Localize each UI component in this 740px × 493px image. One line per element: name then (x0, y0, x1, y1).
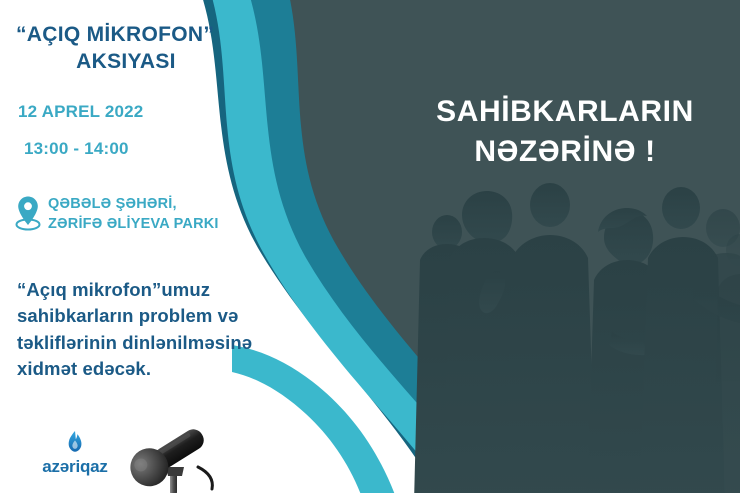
description-line-2: sahibkarların problem və (17, 303, 289, 329)
headline-line-2: NƏZƏRİNƏ ! (405, 132, 725, 172)
gas-flame-icon (62, 430, 88, 456)
map-pin-icon (15, 195, 41, 231)
title-line-2: AKSIYASI (16, 49, 278, 76)
event-announcement-banner: “AÇIQ MİKROFON” AKSIYASI 12 APREL 2022 1… (0, 0, 740, 493)
microphone-image (112, 415, 232, 493)
event-title: “AÇIQ MİKROFON” AKSIYASI (16, 22, 278, 76)
description-line-4: xidmət edəcək. (17, 356, 289, 382)
location-line-1: QƏBƏLƏ ŞƏHƏRİ, (48, 195, 219, 215)
microphone-cable (198, 467, 212, 489)
azeriqaz-wordmark: azəriqaz (30, 458, 120, 475)
azeriqaz-logo: azəriqaz (30, 430, 120, 475)
event-location: QƏBƏLƏ ŞƏHƏRİ, ZƏRİFƏ ƏLİYEVA PARKI (15, 193, 300, 234)
event-time: 13:00 - 14:00 (24, 140, 258, 157)
title-line-1: “AÇIQ MİKROFON” (16, 22, 278, 49)
description-line-3: təkliflərinin dinlənilməsinə (17, 330, 289, 356)
event-datetime: 12 APREL 2022 13:00 - 14:00 (18, 103, 258, 157)
description-line-1: “Açıq mikrofon”umuz (17, 277, 289, 303)
microphone-icon (112, 415, 232, 493)
event-date: 12 APREL 2022 (18, 103, 258, 120)
location-line-2: ZƏRİFƏ ƏLİYEVA PARKI (48, 215, 219, 235)
location-text: QƏBƏLƏ ŞƏHƏRİ, ZƏRİFƏ ƏLİYEVA PARKI (48, 193, 219, 234)
event-description: “Açıq mikrofon”umuz sahibkarların proble… (17, 277, 289, 382)
headline-line-1: SAHİBKARLARIN (405, 92, 725, 132)
main-headline: SAHİBKARLARIN NƏZƏRİNƏ ! (405, 92, 725, 172)
